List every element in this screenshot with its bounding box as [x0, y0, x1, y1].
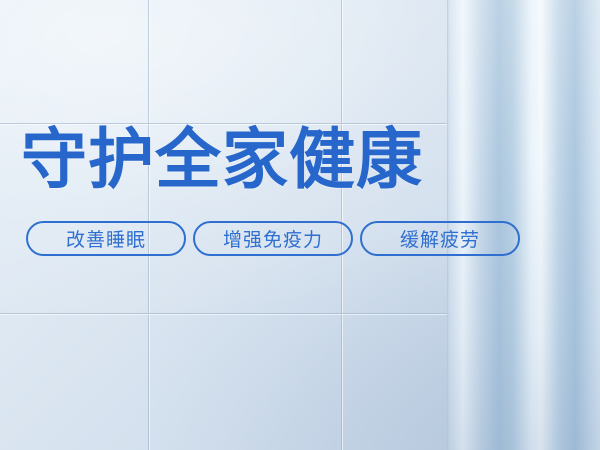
page-title: 守护全家健康	[21, 124, 423, 194]
benefit-pill-row: 改善睡眠 增强免疫力 缓解疲劳	[26, 221, 520, 256]
benefit-pill-fatigue[interactable]: 缓解疲劳	[360, 221, 520, 256]
promo-banner: 守护全家健康 改善睡眠 增强免疫力 缓解疲劳	[0, 0, 600, 450]
benefit-pill-sleep[interactable]: 改善睡眠	[26, 221, 186, 256]
benefit-pill-immunity[interactable]: 增强免疫力	[193, 221, 353, 256]
